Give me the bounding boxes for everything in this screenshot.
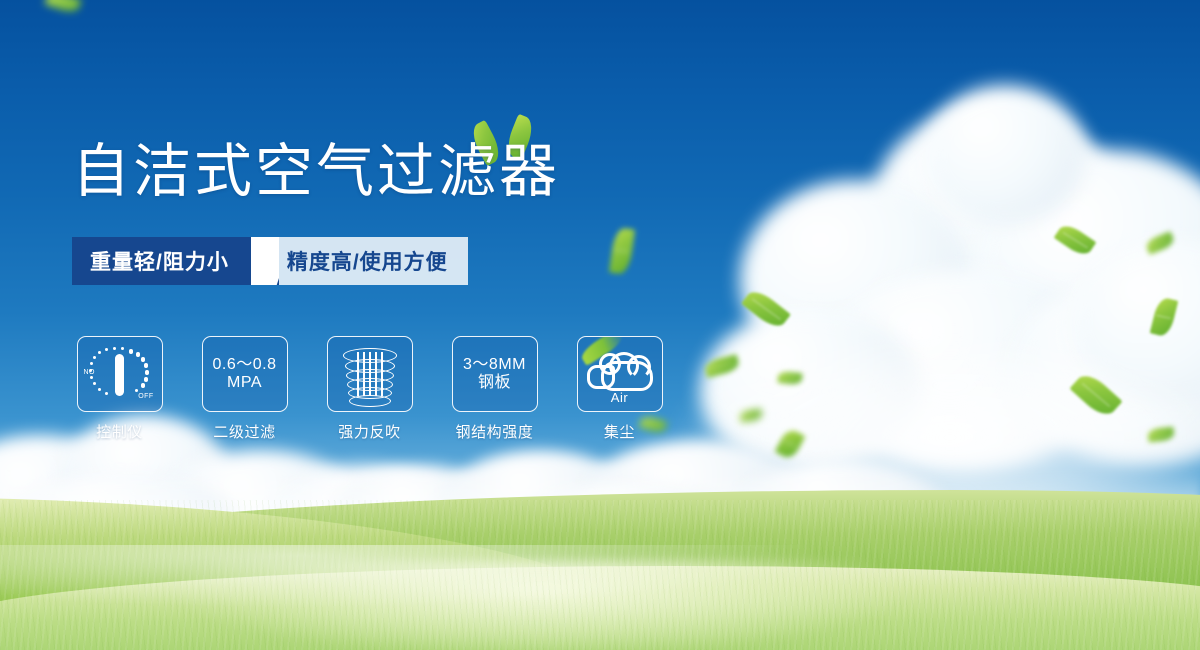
steel-line-2: 钢板 (463, 374, 526, 392)
gauge-needle (115, 354, 124, 396)
gauge-icon: NO OFF (83, 343, 157, 405)
pressure-line-1: 0.6～0.8 (213, 356, 277, 373)
subtitle-right-text: 精度高/使用方便 (279, 237, 468, 285)
cloud-air-icon: Air (583, 343, 657, 405)
grass-shine (0, 545, 1200, 650)
cloud-main-shape (601, 361, 653, 391)
feature-label: 二级过滤 (213, 421, 275, 442)
feature-label: 控制仪 (96, 421, 143, 442)
filter-stack-icon (340, 344, 400, 404)
hero-banner: 自洁式空气过滤器 重量轻/阻力小 精度高/使用方便 (0, 0, 1200, 650)
gauge-label-off: OFF (138, 393, 153, 400)
feature-icon-box: NO OFF (77, 336, 163, 412)
feature-icon-box: Air (577, 336, 663, 412)
steel-line-1: 3～8MM (463, 356, 526, 373)
feature-label: 集尘 (604, 421, 635, 442)
feature-label: 强力反吹 (338, 421, 400, 442)
gauge-label-no: NO (84, 369, 95, 376)
feature-icon-box: 0.6～0.8 MPA (202, 336, 288, 412)
feature-icon-box: 3～8MM 钢板 (452, 336, 538, 412)
page-title: 自洁式空气过滤器 (72, 140, 560, 205)
feature-label: 钢结构强度 (455, 421, 533, 442)
subtitle-bar: 重量轻/阻力小 精度高/使用方便 (72, 237, 468, 285)
feature-item-secondary-filter[interactable]: 0.6～0.8 MPA 二级过滤 (197, 336, 292, 442)
pressure-line-2: MPA (213, 374, 277, 392)
feature-icon-box (327, 336, 413, 412)
steel-text-icon: 3～8MM 钢板 (463, 356, 526, 393)
feature-item-dust-collection[interactable]: Air 集尘 (572, 336, 667, 442)
feature-item-steel-strength[interactable]: 3～8MM 钢板 钢结构强度 (447, 336, 542, 442)
air-label: Air (583, 390, 657, 405)
pressure-text-icon: 0.6～0.8 MPA (213, 356, 277, 393)
subtitle-diagonal-divider (251, 237, 279, 285)
feature-item-backflush[interactable]: 强力反吹 (322, 336, 417, 442)
feature-item-controller[interactable]: NO OFF 控制仪 (72, 336, 167, 442)
feature-list: NO OFF 控制仪 0.6～0.8 MPA 二级过滤 (72, 336, 667, 442)
subtitle-left-text: 重量轻/阻力小 (72, 237, 251, 285)
